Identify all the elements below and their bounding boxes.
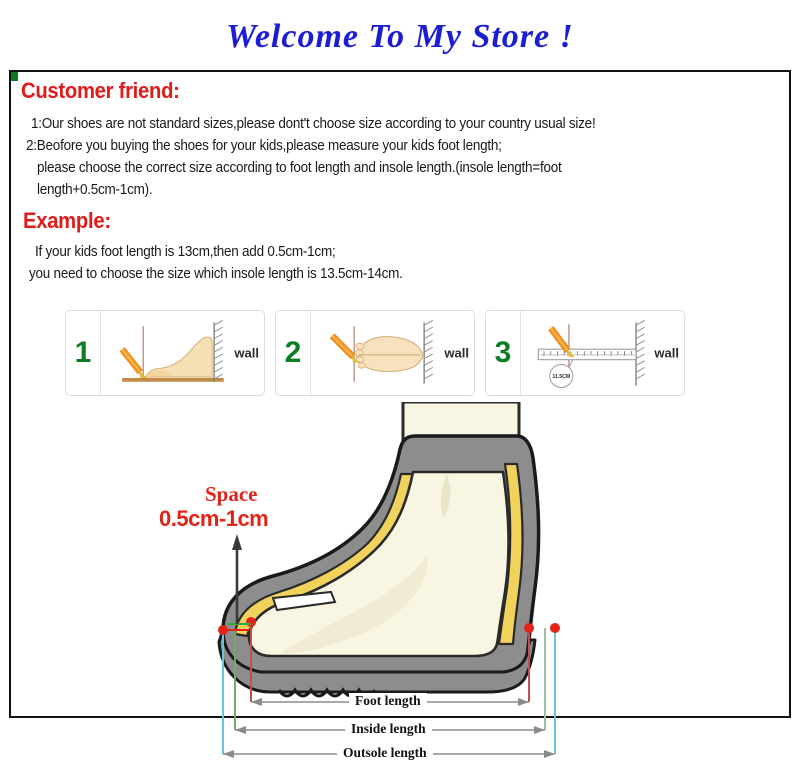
- notice-line-1: 1:Our shoes are not standard sizes,pleas…: [31, 116, 595, 132]
- example-heading: Example:: [23, 208, 111, 234]
- step-2-wall-label: wall: [444, 346, 469, 361]
- example-line-2: you need to choose the size which insole…: [29, 266, 403, 282]
- corner-accent-mark: [11, 72, 18, 81]
- step-3-number: 3: [495, 338, 512, 368]
- content-panel: Customer friend: 1:Our shoes are not sta…: [9, 70, 791, 718]
- step-1-number: 1: [75, 338, 92, 368]
- foot-length-label: Foot length: [349, 693, 427, 709]
- step-3-wall-label: wall: [654, 346, 679, 361]
- customer-friend-heading: Customer friend:: [21, 78, 180, 104]
- shoe-cross-section-diagram: Space 0.5cm-1cm Foot length Inside lengt…: [131, 402, 691, 777]
- step-3-number-cell: 3: [486, 311, 521, 395]
- measure-dot-heel-outer: [550, 623, 560, 633]
- notice-line-2: 2:Beofore you buying the shoes for your …: [26, 138, 502, 154]
- step-panel-3: 3: [485, 310, 685, 396]
- notice-line-4: length+0.5cm-1cm).: [37, 182, 152, 198]
- notice-line-3: please choose the correct size according…: [37, 160, 562, 176]
- step-1-illustration: wall: [101, 311, 264, 395]
- outsole-length-label: Outsole length: [337, 745, 433, 761]
- step-panel-2: 2: [275, 310, 475, 396]
- measure-dot-heel-foot: [524, 623, 534, 633]
- step-1-wall-label: wall: [234, 346, 259, 361]
- step-panel-1: 1: [65, 310, 265, 396]
- space-value-label: 0.5cm-1cm: [159, 506, 268, 532]
- step-3-illustration: 11.5CM wall: [521, 311, 684, 395]
- measure-dot-toe-outer: [218, 625, 228, 635]
- example-line-1: If your kids foot length is 13cm,then ad…: [35, 244, 335, 260]
- step-1-number-cell: 1: [66, 311, 101, 395]
- step-2-number-cell: 2: [276, 311, 311, 395]
- page-title: Welcome To My Store !: [0, 18, 800, 56]
- ruler-reading-text: 11.5CM: [552, 374, 570, 380]
- measure-steps-row: 1: [65, 310, 685, 396]
- space-label: Space: [205, 482, 258, 507]
- step-2-number: 2: [285, 338, 302, 368]
- measure-dot-toe-foot: [246, 617, 256, 627]
- step-2-illustration: wall: [311, 311, 474, 395]
